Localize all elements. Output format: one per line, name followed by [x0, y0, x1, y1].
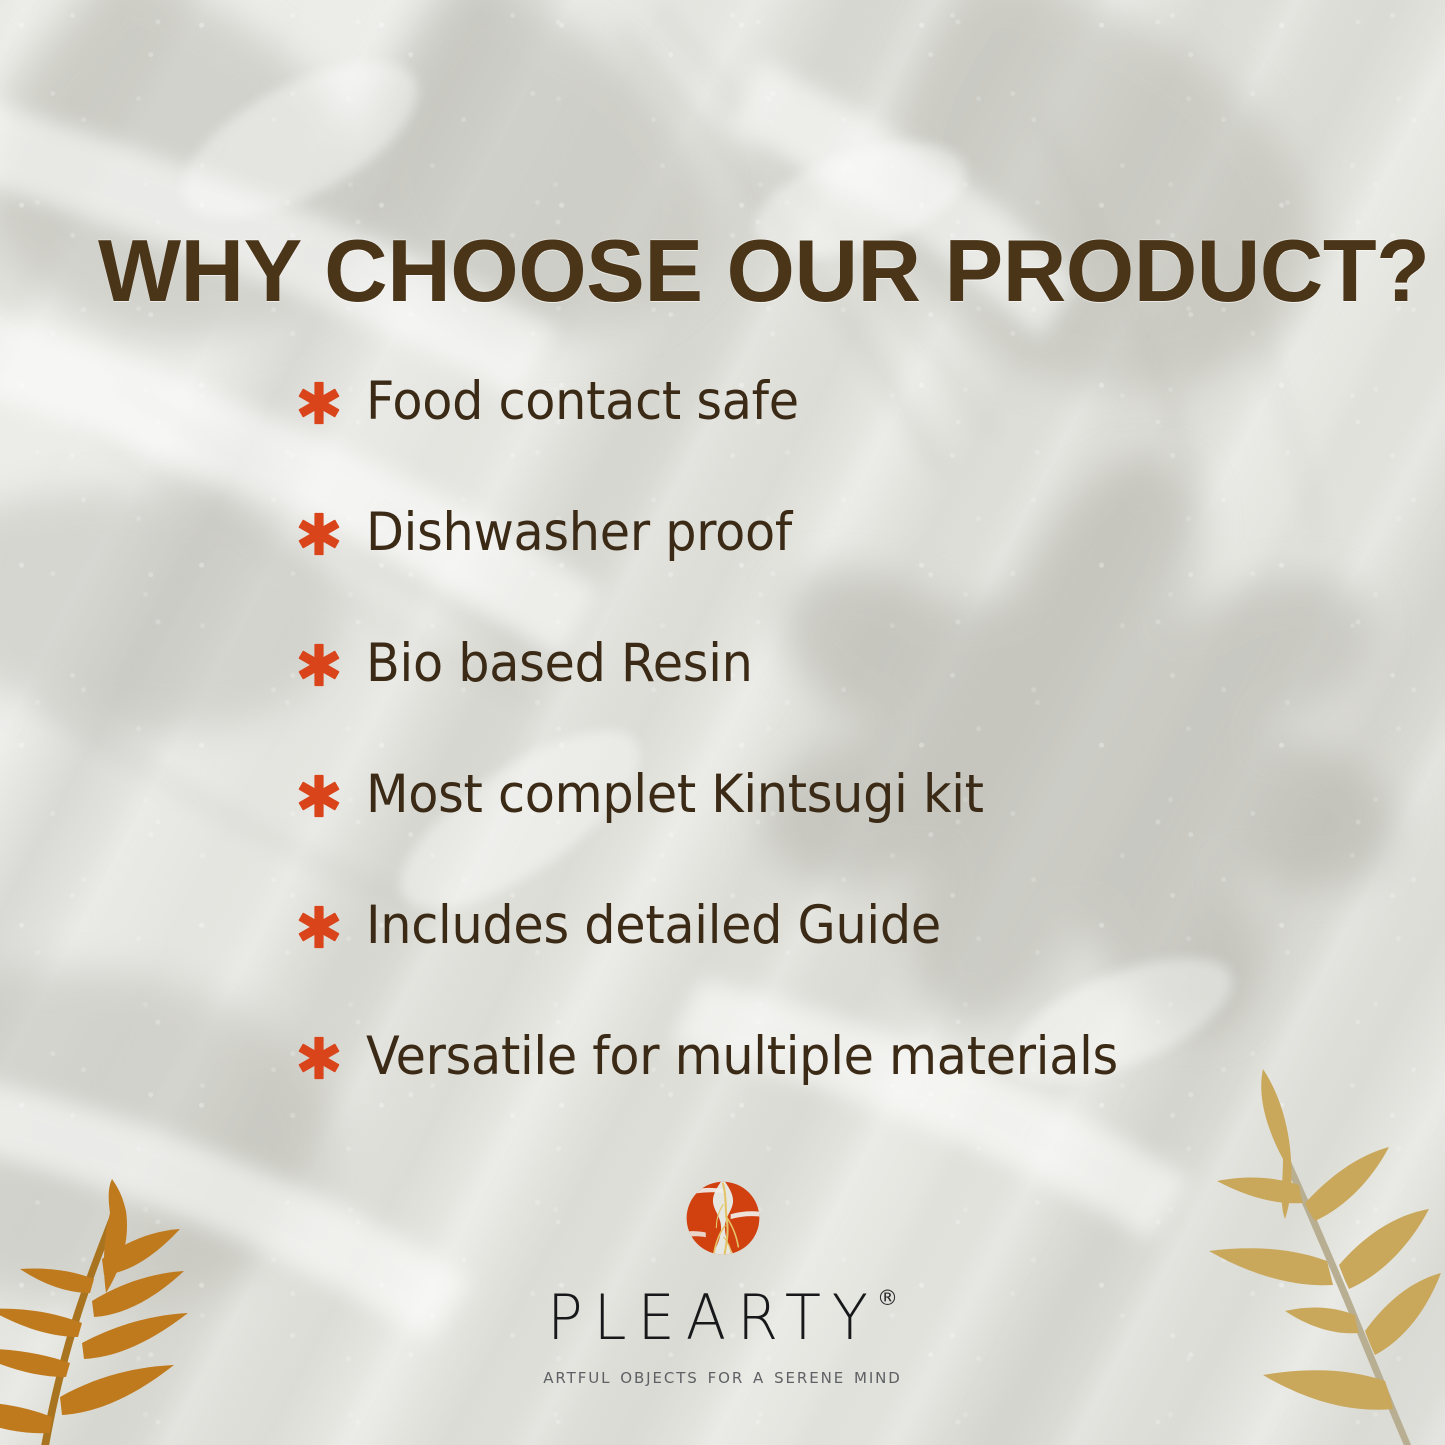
botanical-branch-left [0, 1167, 242, 1445]
registered-trademark-icon: ® [877, 1288, 898, 1309]
list-item-label: Dishwasher proof [366, 506, 792, 559]
wordmark-wrap: PLEARTY ® [547, 1286, 898, 1345]
asterisk-icon [296, 1035, 342, 1081]
page-title: WHY CHOOSE OUR PRODUCT? [98, 227, 1353, 315]
list-item-label: Bio based Resin [366, 637, 753, 690]
brand-tagline: Artful Objects for a Serene Mind [543, 1364, 902, 1389]
asterisk-icon [296, 642, 342, 688]
botanical-branch-right [1159, 1063, 1445, 1445]
brand-wordmark: PLEARTY [547, 1286, 879, 1349]
list-item-label: Includes detailed Guide [366, 899, 941, 952]
list-item-label: Food contact safe [366, 375, 799, 428]
list-item: Bio based Resin [296, 598, 1376, 729]
product-benefits-card: WHY CHOOSE OUR PRODUCT? Food contact saf… [0, 0, 1445, 1445]
asterisk-icon [296, 773, 342, 819]
plearty-kintsugi-vase-mark-icon [675, 1176, 771, 1266]
list-item-label: Most complet Kintsugi kit [366, 768, 984, 821]
benefits-list: Food contact safe Dishwasher proof [296, 336, 1376, 1122]
list-item: Includes detailed Guide [296, 860, 1376, 991]
asterisk-icon [296, 380, 342, 426]
list-item: Food contact safe [296, 336, 1376, 467]
list-item: Most complet Kintsugi kit [296, 729, 1376, 860]
list-item: Dishwasher proof [296, 467, 1376, 598]
list-item-label: Versatile for multiple materials [366, 1030, 1118, 1083]
asterisk-icon [296, 904, 342, 950]
asterisk-icon [296, 511, 342, 557]
